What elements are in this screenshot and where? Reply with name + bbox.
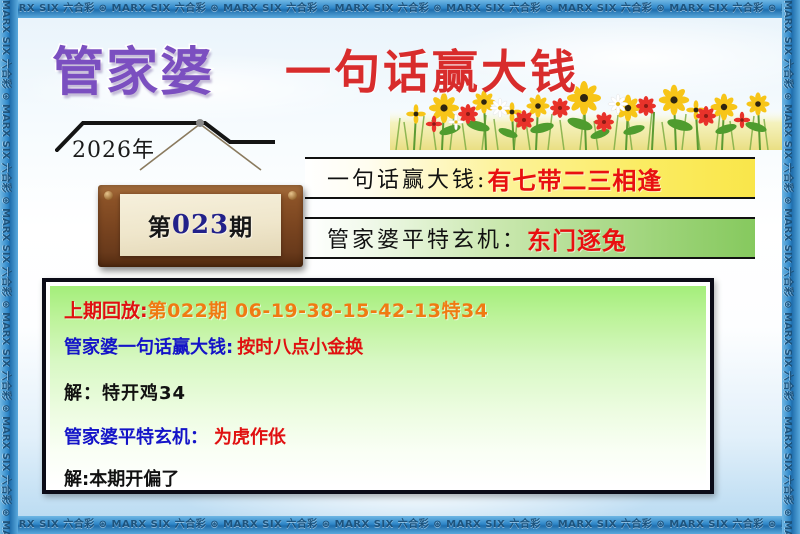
riddle-value: 为虎作伥 [214,423,286,449]
poster-root: 管家婆 一句话赢大钱 2026年 第023期 一句话赢大钱: 有七带二三相逢 管… [0,0,800,534]
phrase-row: 管家婆一句话赢大钱: 按时八点小金换 [64,333,692,359]
phrase-answer-row: 解：特开鸡34 [64,379,692,405]
content-panel: 上期回放: 第022期 06-19-38-15-42-13特34 管家婆一句话赢… [42,278,714,494]
border-band-left-text: MARX SIX 六合彩 ⊛ MARX SIX 六合彩 ⊛ MARX SIX 六… [0,0,14,534]
highlight-row-riddle: 管家婆平特玄机： 东门逐兔 [305,217,755,259]
replay-label: 上期回放: [64,296,148,323]
riddle-answer-row: 解:本期开偏了 [64,465,692,491]
phrase-label: 管家婆一句话赢大钱: [64,333,233,359]
phrase-value: 按时八点小金换 [237,333,363,359]
border-band-right-text: MARX SIX 六合彩 ⊛ MARX SIX 六合彩 ⊛ MARX SIX 六… [782,0,796,534]
highlight-label-phrase: 一句话赢大钱: [327,162,487,194]
border-band-bottom-text: MARX SIX 六合彩 ⊛ MARX SIX 六合彩 ⊛ MARX SIX 六… [0,516,800,534]
highlight-value-riddle: 东门逐兔 [527,221,627,256]
replay-value: 第022期 06-19-38-15-42-13特34 [148,296,489,323]
issue-sign-board: 第023期 [98,185,303,267]
highlight-value-phrase: 有七带二三相逢 [487,161,662,196]
replay-row: 上期回放: 第022期 06-19-38-15-42-13特34 [64,296,692,323]
page-title-slogan: 一句话赢大钱 [285,36,579,102]
phrase-answer-text: 解：特开鸡34 [64,379,186,405]
issue-suffix: 期 [229,208,253,242]
border-band-right: MARX SIX 六合彩 ⊛ MARX SIX 六合彩 ⊛ MARX SIX 六… [782,0,800,534]
border-band-top: MARX SIX 六合彩 ⊛ MARX SIX 六合彩 ⊛ MARX SIX 六… [0,0,800,18]
sign-paper: 第023期 [120,194,281,256]
highlight-row-phrase: 一句话赢大钱: 有七带二三相逢 [305,157,755,199]
border-band-left: MARX SIX 六合彩 ⊛ MARX SIX 六合彩 ⊛ MARX SIX 六… [0,0,18,534]
issue-prefix: 第 [148,208,172,242]
issue-number: 023 [172,210,229,240]
riddle-answer-text: 解:本期开偏了 [64,465,179,491]
riddle-row: 管家婆平特玄机： 为虎作伥 [64,423,692,449]
riddle-label: 管家婆平特玄机： [64,423,208,449]
page-title-brand: 管家婆 [52,30,214,105]
border-band-bottom: MARX SIX 六合彩 ⊛ MARX SIX 六合彩 ⊛ MARX SIX 六… [0,516,800,534]
border-band-top-text: MARX SIX 六合彩 ⊛ MARX SIX 六合彩 ⊛ MARX SIX 六… [0,0,800,18]
issue-number-text: 第023期 [120,194,281,256]
content-panel-inner: 上期回放: 第022期 06-19-38-15-42-13特34 管家婆一句话赢… [50,286,706,486]
highlight-label-riddle: 管家婆平特玄机： [327,222,527,254]
